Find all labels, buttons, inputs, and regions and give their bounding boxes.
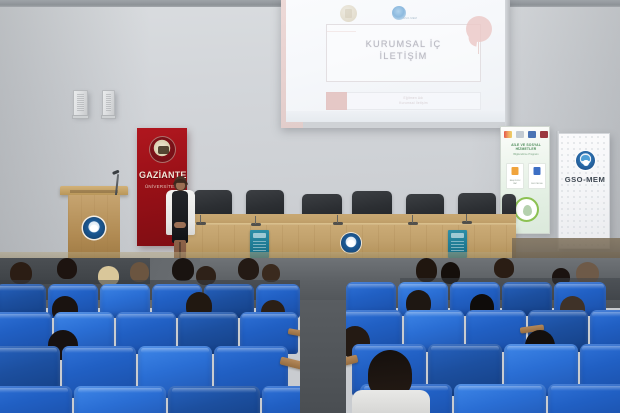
podium-top-surface bbox=[60, 186, 128, 195]
university-crest-icon bbox=[149, 136, 176, 163]
info-icon bbox=[534, 167, 541, 175]
gso-mem-label: GSO-MEM bbox=[559, 175, 610, 184]
table-microphone bbox=[462, 221, 472, 224]
blue-logo-icon bbox=[528, 131, 536, 138]
speaker-grille-icon bbox=[77, 94, 84, 111]
audience-head bbox=[238, 258, 259, 280]
poster-title: AİLE VE SOSYAL HİZMETLER bbox=[505, 143, 547, 152]
table-microphone bbox=[196, 222, 206, 225]
speech-bubble-stem bbox=[478, 42, 479, 54]
slide-footer-line-2: Kurumsal İletişim bbox=[356, 101, 471, 105]
screen-right-edge bbox=[505, 0, 510, 128]
auditorium-seat[interactable] bbox=[0, 386, 72, 413]
speech-bubble-icon bbox=[466, 16, 492, 42]
ministry-logo-icon bbox=[504, 131, 512, 138]
document-icon bbox=[512, 167, 519, 175]
slide-title-line-2: İLETİŞİM bbox=[326, 51, 481, 63]
audience-head bbox=[130, 262, 149, 282]
table-microphone bbox=[251, 223, 261, 226]
center-aisle bbox=[300, 300, 346, 413]
standing-presenter bbox=[163, 176, 197, 262]
poster-tree-badge-icon bbox=[514, 197, 539, 222]
slide-title-line-1: KURUMSAL İÇ bbox=[326, 39, 481, 51]
slide-logo-caption: GSO-MEM bbox=[390, 17, 430, 20]
presenter-dress bbox=[172, 191, 188, 243]
auditorium-seat[interactable] bbox=[74, 386, 166, 413]
university-seal-icon bbox=[83, 217, 105, 239]
slide-bottom-strip bbox=[286, 111, 505, 122]
speaker-mount bbox=[72, 115, 89, 119]
wall-speaker-right bbox=[102, 90, 115, 116]
podium-shelf bbox=[70, 190, 118, 193]
projection-screen: GSO-MEM KURUMSAL İÇ İLETİŞİM Eğitmen Adı… bbox=[281, 0, 510, 128]
red-logo-icon bbox=[540, 131, 548, 138]
audience-head bbox=[494, 258, 514, 278]
presentation-slide: GSO-MEM KURUMSAL İÇ İLETİŞİM Eğitmen Adı… bbox=[286, 0, 505, 122]
speaker-grille-icon bbox=[106, 94, 111, 111]
poster-box-1-label: BAŞVURU YAP bbox=[508, 180, 522, 186]
auditorium-scene: GSO-MEM KURUMSAL İÇ İLETİŞİM Eğitmen Adı… bbox=[0, 0, 620, 413]
audience-shoulders bbox=[352, 390, 430, 413]
slide-logo-row bbox=[334, 4, 454, 24]
university-seal-logo-icon bbox=[340, 5, 357, 22]
auditorium-seat[interactable] bbox=[454, 384, 546, 413]
university-seal-icon bbox=[341, 233, 361, 253]
gso-mem-rollup-banner: GSO-MEM bbox=[558, 133, 610, 249]
poster-box-2-label: DESTEK AL bbox=[530, 183, 544, 186]
table-microphone bbox=[333, 222, 343, 225]
auditorium-seat[interactable] bbox=[168, 386, 260, 413]
poster-info-boxes: BAŞVURU YAP DESTEK AL bbox=[506, 163, 546, 189]
slide-footer-accent bbox=[326, 92, 347, 110]
presenter-hands bbox=[174, 222, 186, 228]
auditorium-seat[interactable] bbox=[548, 384, 620, 413]
slide-title: KURUMSAL İÇ İLETİŞİM bbox=[326, 39, 481, 62]
poster-box-2: DESTEK AL bbox=[528, 163, 546, 189]
table-microphone bbox=[408, 222, 418, 225]
slide-footer-line-1: Eğitmen Adı bbox=[356, 96, 471, 100]
audience-head bbox=[57, 258, 77, 279]
wall-speaker-left bbox=[73, 90, 88, 116]
speaker-mount bbox=[101, 115, 116, 119]
poster-box-1: BAŞVURU YAP bbox=[506, 163, 524, 189]
gray-logo-icon bbox=[516, 131, 524, 138]
gso-mem-shield-icon bbox=[576, 151, 595, 170]
poster-subtitle: Bilgilendirme Programı bbox=[505, 153, 547, 156]
audience-head bbox=[172, 258, 194, 281]
poster-logo-row bbox=[504, 130, 548, 139]
